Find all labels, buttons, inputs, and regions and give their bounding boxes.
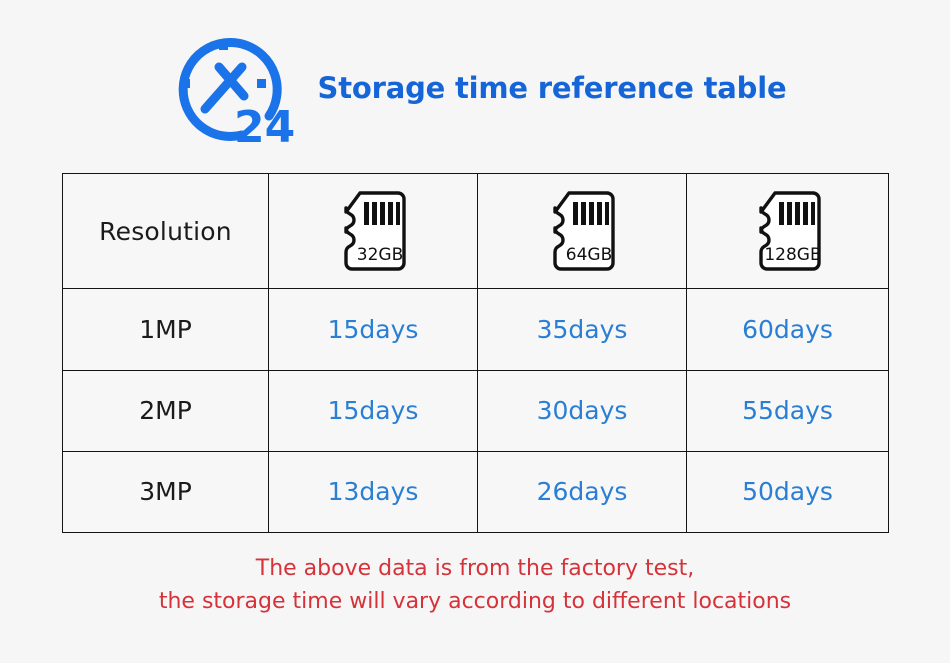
clock-24-icon: 24: [164, 24, 296, 152]
cell-64gb: 30days: [478, 370, 687, 451]
cell-resolution: 1MP: [63, 289, 269, 370]
storage-days-value: 26days: [537, 477, 628, 506]
sdcard-32gb-capacity-text: 32GB: [357, 245, 403, 265]
table-row: 1MP 15days 35days 60days: [63, 289, 889, 370]
sdcard-64gb-capacity-text: 64GB: [566, 245, 612, 265]
storage-days-value: 15days: [328, 396, 419, 425]
header-cell-128gb: 128GB: [687, 174, 889, 289]
footer-line-2: the storage time will vary according to …: [0, 585, 950, 618]
table-row: 2MP 15days 30days 55days: [63, 370, 889, 451]
cell-128gb: 55days: [687, 370, 889, 451]
cell-32gb: 13days: [269, 451, 478, 532]
resolution-value: 3MP: [139, 477, 192, 506]
footer-disclaimer: The above data is from the factory test,…: [0, 552, 950, 618]
storage-days-value: 50days: [742, 477, 833, 506]
cell-64gb: 35days: [478, 289, 687, 370]
table-row: 3MP 13days 26days 50days: [63, 451, 889, 532]
resolution-header-label: Resolution: [99, 217, 232, 246]
storage-days-value: 13days: [328, 477, 419, 506]
storage-time-table: Resolution 32GB: [62, 173, 889, 533]
header-cell-32gb: 32GB: [269, 174, 478, 289]
storage-days-value: 55days: [742, 396, 833, 425]
sdcard-128gb-capacity-text: 128GB: [764, 245, 821, 265]
storage-table-container: Resolution 32GB: [62, 173, 888, 533]
resolution-value: 1MP: [139, 315, 192, 344]
page-header: 24 Storage time reference table: [0, 18, 950, 158]
cell-128gb: 60days: [687, 289, 889, 370]
page-title: Storage time reference table: [318, 71, 787, 105]
cell-32gb: 15days: [269, 289, 478, 370]
cell-128gb: 50days: [687, 451, 889, 532]
resolution-value: 2MP: [139, 396, 192, 425]
storage-days-value: 30days: [537, 396, 628, 425]
footer-line-1: The above data is from the factory test,: [0, 552, 950, 585]
cell-resolution: 2MP: [63, 370, 269, 451]
storage-days-value: 15days: [328, 315, 419, 344]
cell-resolution: 3MP: [63, 451, 269, 532]
sdcard-64gb-icon: 64GB: [547, 190, 617, 272]
clock-badge-text: 24: [234, 102, 295, 152]
table-header-row: Resolution 32GB: [63, 174, 889, 289]
header-cell-resolution: Resolution: [63, 174, 269, 289]
cell-64gb: 26days: [478, 451, 687, 532]
sdcard-128gb-icon: 128GB: [753, 190, 823, 272]
storage-time-reference-page: 24 Storage time reference table Resoluti…: [0, 0, 950, 663]
storage-days-value: 35days: [537, 315, 628, 344]
storage-days-value: 60days: [742, 315, 833, 344]
header-cell-64gb: 64GB: [478, 174, 687, 289]
sdcard-32gb-icon: 32GB: [338, 190, 408, 272]
cell-32gb: 15days: [269, 370, 478, 451]
